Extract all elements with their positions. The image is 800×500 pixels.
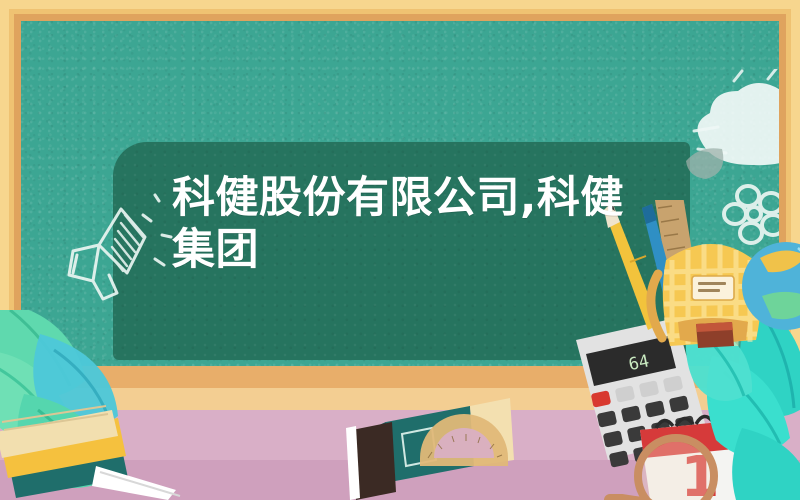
- banner-image: 64: [0, 0, 800, 500]
- title-block: 科健股份有限公司,科健集团: [172, 172, 642, 276]
- cloud-scribble-icon: [676, 69, 779, 199]
- megaphone-icon: [59, 181, 179, 306]
- page-title: 科健股份有限公司,科健集团: [172, 172, 642, 276]
